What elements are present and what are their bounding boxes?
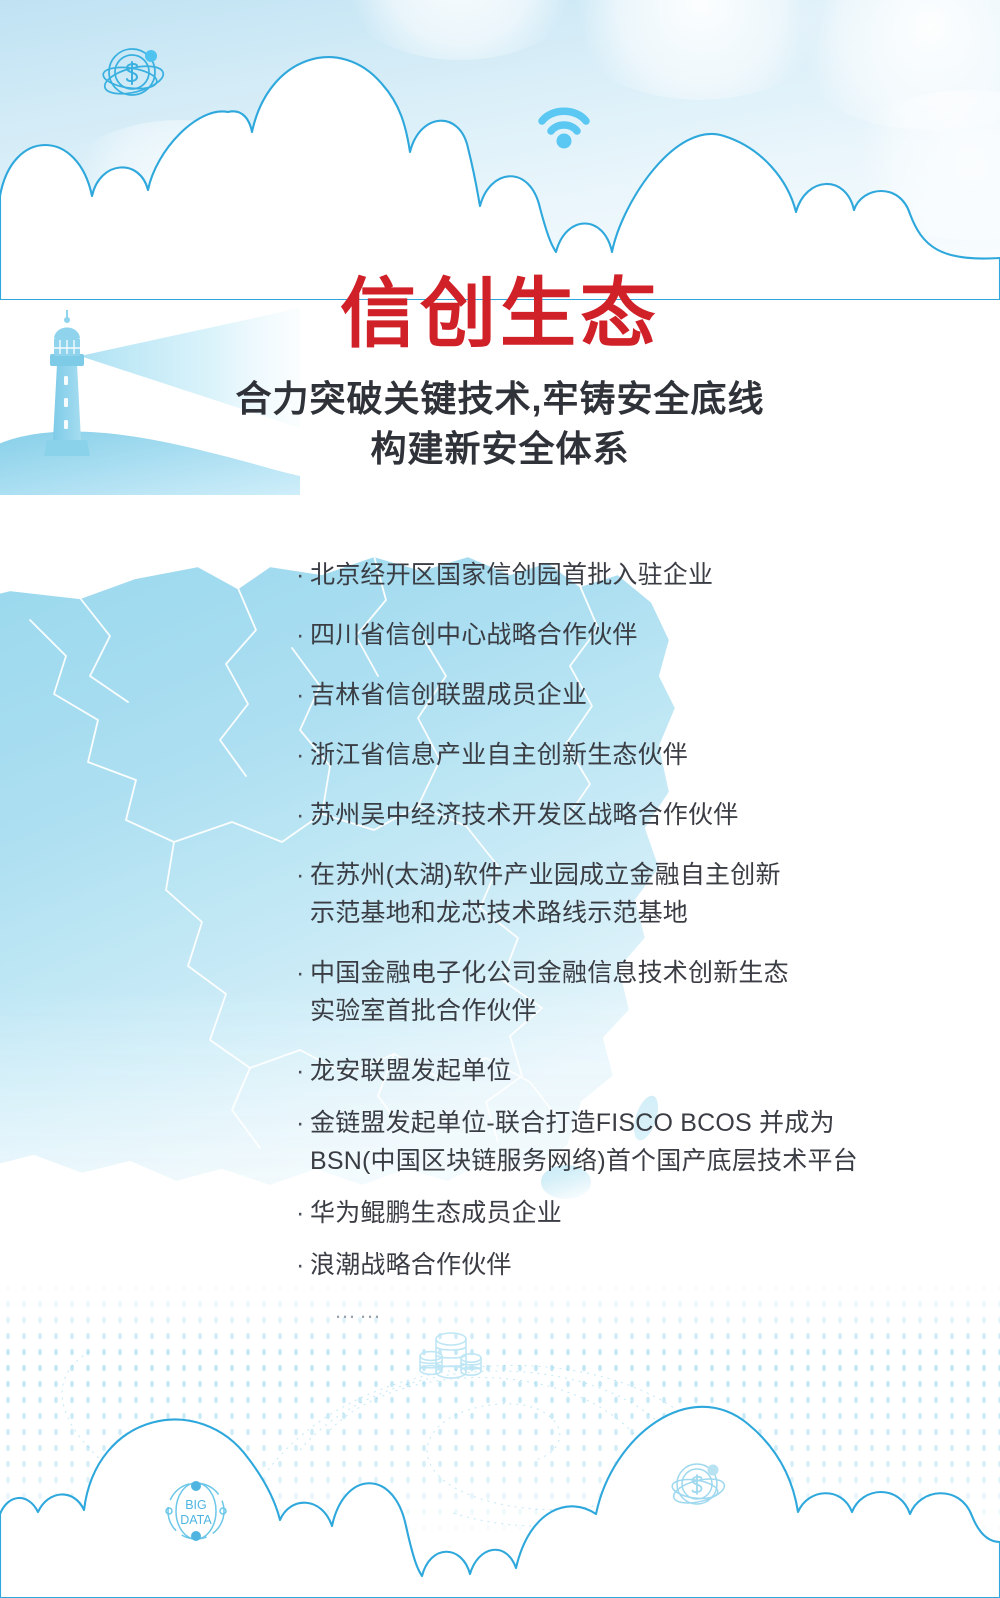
list-item: · 吉林省信创联盟成员企业 (296, 676, 936, 714)
bullet-marker-icon: · (296, 796, 310, 834)
bullet-marker-icon: · (296, 556, 310, 594)
list-item: · 中国金融电子化公司金融信息技术创新生态 实验室首批合作伙伴 (296, 954, 936, 1030)
list-item-label: 苏州吴中经济技术开发区战略合作伙伴 (310, 796, 738, 834)
bullet-marker-icon: · (296, 954, 310, 992)
poster-content: 信创生态 合力突破关键技术,牢铸安全底线 构建新安全体系 · 北京经开区国家信创… (0, 0, 1000, 1598)
list-item: · 在苏州(太湖)软件产业园成立金融自主创新 示范基地和龙芯技术路线示范基地 (296, 856, 936, 932)
list-item: · 龙安联盟发起单位 (296, 1052, 936, 1090)
list-item-label: 北京经开区国家信创园首批入驻企业 (310, 556, 713, 594)
list-item-label: 龙安联盟发起单位 (310, 1052, 512, 1090)
headline-block: 信创生态 合力突破关键技术,牢铸安全底线 构建新安全体系 (0, 272, 1000, 474)
bullet-marker-icon: · (296, 616, 310, 654)
list-item: · 浙江省信息产业自主创新生态伙伴 (296, 736, 936, 774)
subtitle-line-2: 构建新安全体系 (0, 424, 1000, 474)
list-item-label: 浙江省信息产业自主创新生态伙伴 (310, 736, 688, 774)
list-item-label: 在苏州(太湖)软件产业园成立金融自主创新 示范基地和龙芯技术路线示范基地 (310, 856, 781, 932)
bullet-marker-icon: · (296, 676, 310, 714)
list-item-label: 金链盟发起单位-联合打造FISCO BCOS 并成为 BSN(中国区块链服务网络… (310, 1104, 858, 1180)
list-item-label: 中国金融电子化公司金融信息技术创新生态 实验室首批合作伙伴 (310, 954, 789, 1030)
list-item-label: 浪潮战略合作伙伴 (310, 1246, 512, 1284)
list-item: · 四川省信创中心战略合作伙伴 (296, 616, 936, 654)
bullet-marker-icon: · (296, 736, 310, 774)
bullet-marker-icon: · (296, 1194, 310, 1232)
page-title: 信创生态 (0, 272, 1000, 358)
subtitle-line-1: 合力突破关键技术,牢铸安全底线 (0, 374, 1000, 424)
list-item-label: 华为鲲鹏生态成员企业 (310, 1194, 562, 1232)
list-item: · 苏州吴中经济技术开发区战略合作伙伴 (296, 796, 936, 834)
bullet-marker-icon: · (296, 1104, 310, 1142)
list-ellipsis: …… (334, 1298, 936, 1324)
list-item: · 华为鲲鹏生态成员企业 (296, 1194, 936, 1232)
list-item-label: 吉林省信创联盟成员企业 (310, 676, 587, 714)
poster-root: BIG DATA 信创生态 合力突破关键技术,牢铸安全底线 构建新安全体系 · … (0, 0, 1000, 1598)
bullet-marker-icon: · (296, 856, 310, 894)
bullet-marker-icon: · (296, 1052, 310, 1090)
list-item: · 金链盟发起单位-联合打造FISCO BCOS 并成为 BSN(中国区块链服务… (296, 1104, 936, 1180)
list-item: · 北京经开区国家信创园首批入驻企业 (296, 556, 936, 594)
list-item: · 浪潮战略合作伙伴 (296, 1246, 936, 1284)
list-item-label: 四川省信创中心战略合作伙伴 (310, 616, 638, 654)
bullet-marker-icon: · (296, 1246, 310, 1284)
achievement-list: · 北京经开区国家信创园首批入驻企业 · 四川省信创中心战略合作伙伴 · 吉林省… (296, 556, 936, 1324)
